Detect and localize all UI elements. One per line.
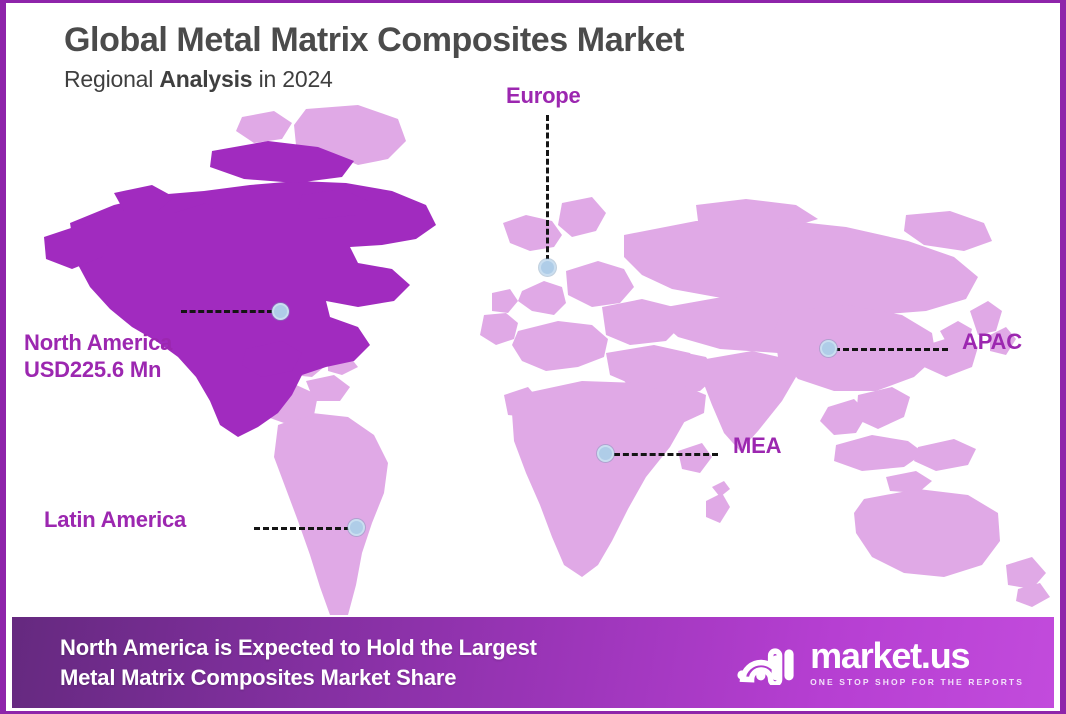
- infographic-frame: Global Metal Matrix Composites Market Re…: [0, 0, 1066, 714]
- marker-europe[interactable]: [539, 259, 556, 276]
- banner-headline-line1: North America is Expected to Hold the La…: [60, 633, 537, 662]
- region-name-apac: APAC: [962, 329, 1022, 356]
- subtitle-suffix: in 2024: [252, 66, 332, 92]
- marker-mea[interactable]: [597, 445, 614, 462]
- leader-line-apac: [834, 348, 948, 351]
- leader-line-europe: [546, 115, 549, 261]
- region-label-latin-america: Latin America: [44, 507, 186, 534]
- region-name-europe: Europe: [506, 83, 581, 110]
- region-label-apac: APAC: [962, 329, 1022, 356]
- marker-apac[interactable]: [820, 340, 837, 357]
- logo-name: market.us: [810, 638, 969, 674]
- subtitle-prefix: Regional: [64, 66, 159, 92]
- marker-latin-america[interactable]: [348, 519, 365, 536]
- leader-line-mea: [614, 453, 718, 456]
- region-name-north-america: North America: [24, 330, 172, 357]
- marker-north-america[interactable]: [272, 303, 289, 320]
- region-label-north-america: North America USD225.6 Mn: [24, 330, 172, 384]
- region-label-europe: Europe: [506, 83, 581, 110]
- region-name-latin-america: Latin America: [44, 507, 186, 534]
- map-highlight-north-america: [44, 141, 436, 437]
- logo-text-block: market.us ONE STOP SHOP FOR THE REPORTS: [810, 638, 1024, 687]
- region-label-mea: MEA: [733, 433, 781, 460]
- market-us-logo[interactable]: market.us ONE STOP SHOP FOR THE REPORTS: [737, 638, 1024, 687]
- leader-line-latin-america: [254, 527, 350, 530]
- page-title: Global Metal Matrix Composites Market: [64, 21, 684, 60]
- page-subtitle: Regional Analysis in 2024: [64, 66, 684, 93]
- banner-headline: North America is Expected to Hold the La…: [60, 633, 537, 692]
- leader-line-north-america: [181, 310, 273, 313]
- banner-headline-line2: Metal Matrix Composites Market Share: [60, 663, 537, 692]
- bottom-banner: North America is Expected to Hold the La…: [12, 617, 1054, 708]
- region-name-mea: MEA: [733, 433, 781, 460]
- header: Global Metal Matrix Composites Market Re…: [64, 21, 684, 93]
- market-us-logo-icon: [737, 641, 799, 685]
- logo-tagline: ONE STOP SHOP FOR THE REPORTS: [810, 677, 1024, 687]
- subtitle-emphasis: Analysis: [159, 66, 252, 92]
- region-value-north-america: USD225.6 Mn: [24, 357, 172, 384]
